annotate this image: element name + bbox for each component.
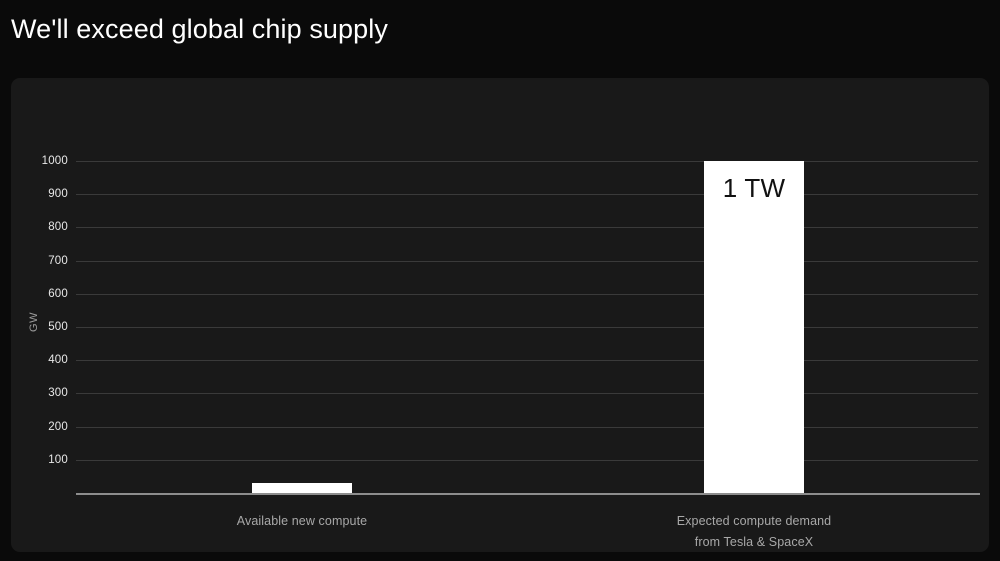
y-axis-tick-label: 800 [11,221,68,233]
gridline [76,360,978,361]
x-axis-category-label-line: Available new compute [76,511,528,532]
y-axis-tick-label: 200 [11,421,68,433]
gridlines: 1000900800700600500400300200100 [11,78,989,552]
gridline [76,227,978,228]
x-axis-category-label-line: from Tesla & SpaceX [528,532,980,552]
gridline [76,327,978,328]
y-axis-tick-label: 600 [11,288,68,300]
bar[interactable] [252,483,352,493]
gridline [76,393,978,394]
x-axis-baseline [76,493,980,495]
bar-chart-plot: GW 1000900800700600500400300200100 1 TW … [11,78,989,552]
y-axis-tick-label: 900 [11,188,68,200]
y-axis-tick-label: 300 [11,387,68,399]
gridline [76,261,978,262]
chart-panel: GW 1000900800700600500400300200100 1 TW … [11,78,989,552]
gridline [76,460,978,461]
gridline [76,294,978,295]
y-axis-tick-label: 1000 [11,155,68,167]
y-axis-tick-label: 500 [11,321,68,333]
y-axis-tick-label: 700 [11,255,68,267]
y-axis-tick-label: 100 [11,454,68,466]
x-axis-category-label: Available new compute [76,511,528,532]
y-axis-tick-label: 400 [11,354,68,366]
gridline [76,194,978,195]
bar-value-label: 1 TW [704,173,804,204]
page-title: We'll exceed global chip supply [11,14,388,45]
gridline [76,427,978,428]
x-axis-category-label: Expected compute demandfrom Tesla & Spac… [528,511,980,552]
gridline [76,161,978,162]
bar[interactable]: 1 TW [704,161,804,493]
slide-root: We'll exceed global chip supply GW 10009… [0,0,1000,561]
x-axis-category-label-line: Expected compute demand [528,511,980,532]
